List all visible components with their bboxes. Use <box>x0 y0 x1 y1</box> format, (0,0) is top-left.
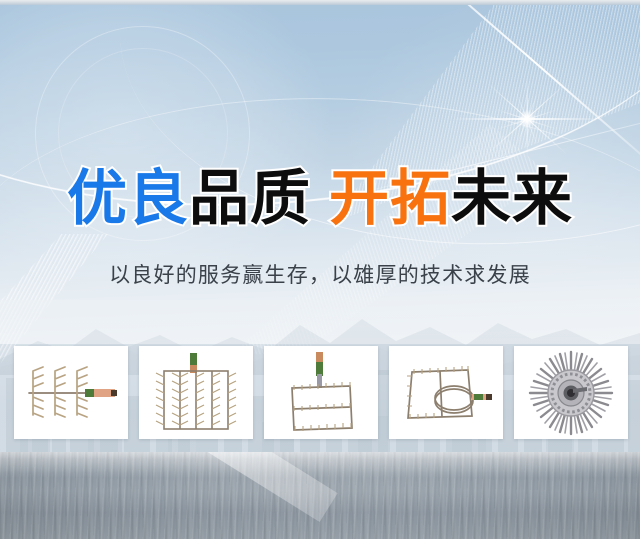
product-spiked-roller-icon <box>150 351 242 435</box>
product-card-strip <box>14 346 628 439</box>
product-card[interactable] <box>139 346 253 439</box>
product-comb-rake-icon <box>19 353 123 433</box>
light-beam-diagonal <box>352 0 640 187</box>
flare-spike-diag-3 <box>495 108 558 129</box>
product-spike-wheel-icon <box>527 349 615 437</box>
product-card[interactable] <box>389 346 503 439</box>
flare-core <box>518 110 536 128</box>
flare-spike-diag-2 <box>486 82 567 155</box>
headline-part-3: 开拓 <box>329 164 451 234</box>
flare-spike-diag-4 <box>495 108 558 129</box>
ground-surface <box>0 452 640 539</box>
flare-spike-vertical <box>526 76 527 162</box>
product-loop-frame-icon <box>394 358 498 428</box>
product-card[interactable] <box>14 346 128 439</box>
banner-subtitle: 以良好的服务赢生存，以雄厚的技术求发展 <box>0 261 640 289</box>
flare-spike-diag-6 <box>515 91 538 147</box>
mesh-wedge-lower-left <box>0 234 180 364</box>
flare-spike-diag-1 <box>486 82 567 155</box>
banner-headline: 优良品质开拓未来 <box>0 166 640 232</box>
flare-spike-diag-5 <box>515 91 538 147</box>
mesh-wedge-center <box>120 124 550 354</box>
promo-banner: 优良品质开拓未来 以良好的服务赢生存，以雄厚的技术求发展 <box>0 0 640 539</box>
sky-glow-right <box>340 0 640 294</box>
product-card[interactable] <box>264 346 378 439</box>
flare-spike-horizontal <box>452 118 602 120</box>
ground-vignette <box>0 452 640 539</box>
headline-part-1: 优良 <box>67 164 189 234</box>
product-rectangular-frame-icon <box>278 350 364 436</box>
headline-part-2: 品质 <box>189 164 311 234</box>
top-edge-strip <box>0 0 640 5</box>
product-card[interactable] <box>514 346 628 439</box>
sky-glow-left <box>0 0 330 294</box>
headline-part-4: 未来 <box>451 164 573 234</box>
